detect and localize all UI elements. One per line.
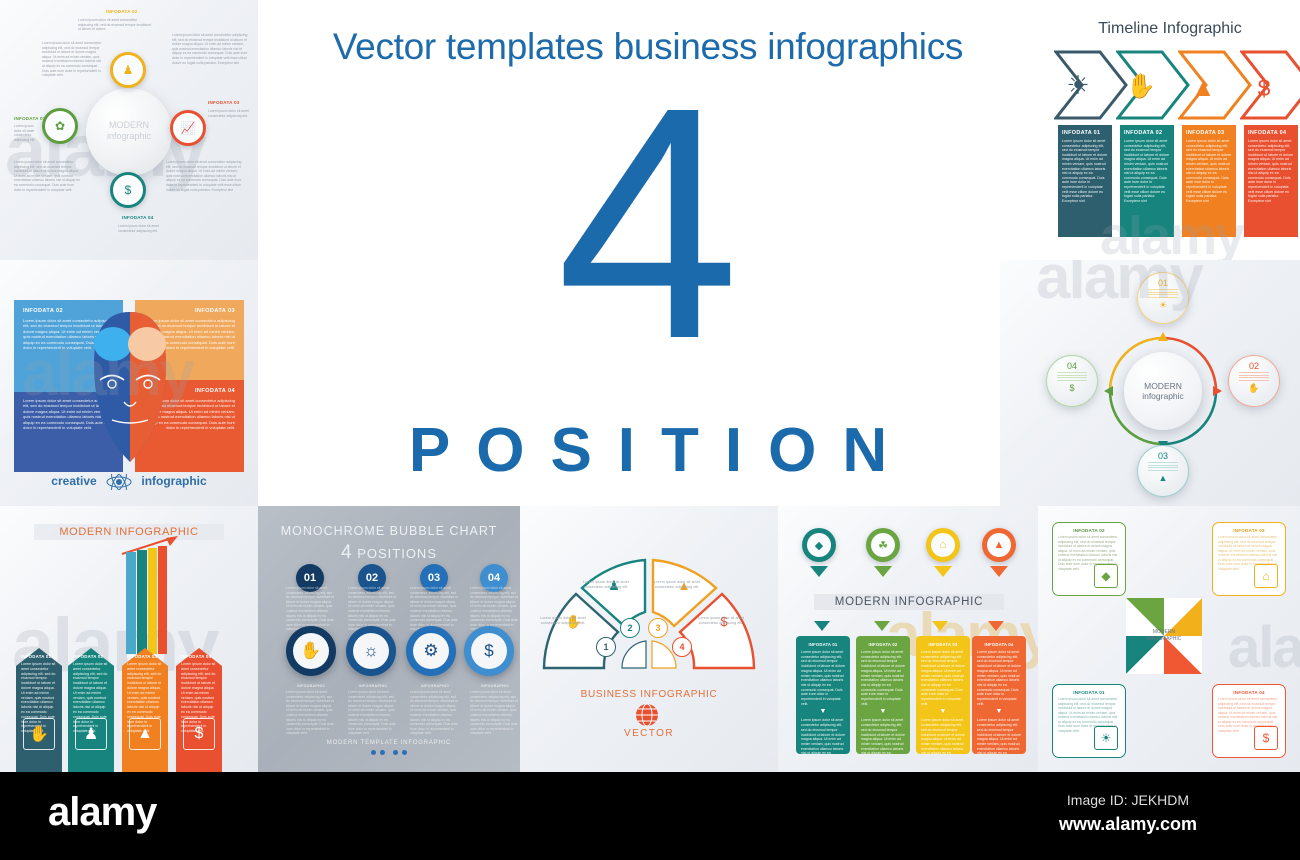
map-icon: ◆ bbox=[1094, 564, 1118, 588]
timeline-card-1-text: Lorem ipsum dolor sit amet consectetur a… bbox=[1062, 139, 1108, 203]
p8-card-4-text2: Lorem ipsum dolor sit amet consectetur a… bbox=[977, 718, 1021, 754]
building-icon: ⌂ bbox=[931, 533, 955, 557]
panel-monochrome-bubbles: MONOCHROME BUBBLE CHART 4 POSITIONS 01 0… bbox=[258, 506, 520, 772]
handshake-icon: ✋ bbox=[1248, 383, 1259, 394]
svg-text:✋: ✋ bbox=[1126, 72, 1156, 100]
p1-text-1b: Lorem ipsum dolor sit amet consectetur a… bbox=[14, 160, 80, 192]
p1-label-3: INFODATA 03 bbox=[208, 101, 239, 106]
arrow-col-3[interactable]: INFODATA 03 Lorem ipsum dolor sit amet c… bbox=[122, 648, 168, 758]
p1-node-3[interactable]: 📈 bbox=[170, 110, 206, 146]
group-icon: ♟ bbox=[75, 718, 107, 750]
bubble-caption-1-body: Lorem ipsum dolor sit amet consectetur a… bbox=[286, 690, 336, 736]
p6-carousel-dots[interactable] bbox=[258, 742, 520, 760]
globe-icon bbox=[634, 702, 660, 728]
ring-node-3-num: 03 bbox=[1158, 451, 1168, 461]
bubble-text-3: Lorem ipsum dolor sit amet consectetur a… bbox=[410, 586, 460, 632]
bubble-text-3-body: Lorem ipsum dolor sit amet consectetur a… bbox=[410, 586, 460, 632]
screenshot-root: Vector templates business infographics 4… bbox=[0, 0, 1300, 860]
p8-triangle-4 bbox=[990, 566, 1008, 577]
p8-card-3-label: INFODATA 03 bbox=[921, 642, 965, 647]
lightbulb-icon: ☀ bbox=[1094, 726, 1118, 750]
bubble-text-2-body: Lorem ipsum dolor sit amet consectetur a… bbox=[348, 586, 398, 632]
p8-triangle2-2 bbox=[874, 621, 890, 631]
dot-3[interactable] bbox=[393, 750, 398, 755]
panel-circular-modern: alamy MODERN infographic ✿ INFODATA 01 L… bbox=[0, 0, 258, 260]
p8-card-3-text2: Lorem ipsum dolor sit amet consectetur a… bbox=[921, 718, 965, 754]
p8-card-4[interactable]: INFODATA 04 Lorem ipsum dolor sit amet c… bbox=[972, 636, 1026, 754]
p1-node-1[interactable]: ✿ bbox=[42, 108, 78, 144]
arrow-col-1[interactable]: INFODATA 01 Lorem ipsum dolor sit amet c… bbox=[16, 648, 62, 758]
p1-center-sphere: MODERN infographic bbox=[86, 88, 172, 176]
p8-card-2-arrow: ▼ bbox=[861, 708, 905, 715]
atom-icon bbox=[106, 474, 132, 490]
watermark-alamy-p9: alamy bbox=[1228, 614, 1300, 681]
corner-card-4[interactable]: INFODATA 04 Lorem ipsum dolor sit amet c… bbox=[1212, 684, 1286, 758]
p1-node-2[interactable]: ♟ bbox=[110, 52, 146, 88]
p1-text-1a: Lorem ipsum dolor sit amet consectetur a… bbox=[14, 124, 40, 142]
plant-icon: ☘ bbox=[871, 533, 895, 557]
p1-center-line2: infographic bbox=[86, 131, 172, 141]
arrow-col-4-label: INFODATA 04 bbox=[181, 654, 217, 659]
timeline-card-2-label: INFODATA 02 bbox=[1124, 130, 1170, 136]
bubble-text-4-body: Lorem ipsum dolor sit amet consectetur a… bbox=[470, 586, 520, 632]
lightbulb-icon: ☀ bbox=[1159, 300, 1167, 311]
segment-1-text: Lorem ipsum dolor sit amet consectetur a… bbox=[540, 616, 586, 626]
p1-label-2: INFODATA 02 bbox=[106, 10, 137, 15]
p8-title: MODERN INFOGRAPHIC bbox=[814, 594, 1004, 610]
image-id-label: Image ID: JEKHDM bbox=[1008, 792, 1248, 808]
timeline-arrow-4[interactable]: $ bbox=[1240, 48, 1300, 122]
corner-card-4-label: INFODATA 04 bbox=[1218, 690, 1280, 695]
arrow-col-2-label: INFODATA 02 bbox=[73, 654, 109, 659]
money-bag-icon: $ bbox=[1254, 726, 1278, 750]
p8-card-1-text: Lorem ipsum dolor sit amet consectetur a… bbox=[801, 650, 845, 706]
bubble-big-2[interactable]: ☼ bbox=[346, 626, 396, 676]
alamy-url: www.alamy.com bbox=[1008, 814, 1248, 835]
timeline-card-1-label: INFODATA 01 bbox=[1062, 130, 1108, 136]
p8-triangle-3 bbox=[934, 566, 952, 577]
panel-ring-modern: MODERN infographic 01 ☀ 02 ✋ 03 ▲ 04 $ a… bbox=[1000, 260, 1300, 506]
panel-modern-cards: alamy ◆ ☘ ⌂ ▲ MODERN INFOGRAPHIC INFODAT… bbox=[778, 506, 1038, 772]
bubble-big-4[interactable]: $ bbox=[464, 626, 514, 676]
map-icon: ◆ bbox=[807, 533, 831, 557]
ring-node-1-num: 01 bbox=[1158, 278, 1168, 288]
bubble-caption-4: INFOGRAPHIC Lorem ipsum dolor sit amet c… bbox=[470, 684, 520, 736]
p6-subtitle: 4 POSITIONS bbox=[258, 542, 520, 564]
p1-label-1: INFODATA 01 bbox=[14, 117, 45, 122]
corner-card-2-label: INFODATA 02 bbox=[1058, 528, 1120, 533]
bubble-caption-2-body: Lorem ipsum dolor sit amet consectetur a… bbox=[348, 690, 398, 736]
big-number: 4 bbox=[258, 58, 1038, 388]
panel-arrow-columns: MODERN INFOGRAPHIC alamy INFODATA 01 Lor… bbox=[0, 506, 258, 772]
bubble-caption-3: INFOGRAPHIC Lorem ipsum dolor sit amet c… bbox=[410, 684, 460, 736]
p1-label-4: INFODATA 04 bbox=[122, 216, 153, 221]
p1-text-2b: Lorem ipsum dolor sit amet consectetur a… bbox=[42, 41, 104, 78]
bubble-caption-2: INFOGRAPHIC Lorem ipsum dolor sit amet c… bbox=[348, 684, 398, 736]
p8-circle-3[interactable]: ⌂ bbox=[926, 528, 960, 562]
chart-icon: 📈 bbox=[176, 116, 200, 140]
chart-icon: ▲ bbox=[987, 533, 1011, 557]
p8-card-2-text: Lorem ipsum dolor sit amet consectetur a… bbox=[861, 650, 905, 706]
ring-node-2[interactable]: 02 ✋ bbox=[1228, 355, 1280, 407]
timeline-card-2[interactable]: INFODATA 02 Lorem ipsum dolor sit amet c… bbox=[1120, 125, 1174, 237]
p6-subtitle-number: 4 bbox=[341, 542, 353, 563]
p8-card-3-text: Lorem ipsum dolor sit amet consectetur a… bbox=[921, 650, 965, 706]
pinwheel-label: MODERN INFOGRAPHIC bbox=[1126, 598, 1202, 674]
money-bag-icon: $ bbox=[1069, 383, 1074, 393]
p8-card-4-text: Lorem ipsum dolor sit amet consectetur a… bbox=[977, 650, 1021, 706]
arrow-col-3-label: INFODATA 03 bbox=[127, 654, 163, 659]
ring-core-line1: MODERN bbox=[1144, 381, 1182, 391]
timeline-card-4-text: Lorem ipsum dolor sit amet consectetur a… bbox=[1248, 139, 1294, 203]
ring-node-2-num: 02 bbox=[1249, 361, 1259, 371]
arrow-col-4[interactable]: INFODATA 04 Lorem ipsum dolor sit amet c… bbox=[176, 648, 222, 758]
panel-semicircle-business: ✋ ♟ ▲ $ Lorem ipsum dolor sit amet conse… bbox=[520, 506, 778, 772]
dot-2[interactable] bbox=[380, 750, 385, 755]
pinwheel-line1: MODERN bbox=[1153, 629, 1175, 636]
bubble-text-2: Lorem ipsum dolor sit amet consectetur a… bbox=[348, 586, 398, 632]
corner-card-3-label: INFODATA 03 bbox=[1218, 528, 1280, 533]
head-silhouette-icon bbox=[80, 304, 180, 474]
dot-1[interactable] bbox=[371, 750, 376, 755]
p6-title: MONOCHROME BUBBLE CHART bbox=[258, 524, 520, 538]
segment-2-text: Lorem ipsum dolor sit amet consectetur a… bbox=[583, 580, 629, 590]
gears-icon: ⚙ bbox=[413, 633, 449, 669]
p8-circle-1[interactable]: ◆ bbox=[802, 528, 836, 562]
svg-text:▲: ▲ bbox=[1191, 74, 1216, 102]
p8-card-1-label: INFODATA 01 bbox=[801, 642, 845, 647]
panel-creative-head: INFODATA 01 Lorem ipsum dolor sit amet c… bbox=[0, 260, 258, 506]
p8-triangle2-1 bbox=[814, 621, 830, 631]
ring-core-line2: infographic bbox=[1142, 391, 1184, 401]
p1-node-4[interactable]: $ bbox=[110, 172, 146, 208]
svg-text:$: $ bbox=[1258, 75, 1271, 101]
p6-subtitle-word: POSITIONS bbox=[357, 546, 437, 561]
timeline-card-2-text: Lorem ipsum dolor sit amet consectetur a… bbox=[1124, 139, 1170, 203]
leaf-icon: ✿ bbox=[48, 114, 72, 138]
ring-node-4[interactable]: 04 $ bbox=[1046, 355, 1098, 407]
ring-core: MODERN infographic bbox=[1124, 352, 1202, 430]
timeline-card-3-label: INFODATA 03 bbox=[1186, 130, 1232, 136]
p8-card-2-label: INFODATA 02 bbox=[861, 642, 905, 647]
center-title-column: Vector templates business infographics 4… bbox=[258, 0, 1038, 506]
p1-text-4b: Lorem ipsum dolor sit amet consectetur a… bbox=[166, 160, 244, 192]
p8-card-1-text2: Lorem ipsum dolor sit amet consectetur a… bbox=[801, 718, 845, 754]
timeline-card-3-text: Lorem ipsum dolor sit amet consectetur a… bbox=[1186, 139, 1232, 203]
p1-text-3b: Lorem ipsum dolor sit amet consectetur a… bbox=[172, 33, 250, 65]
timeline-card-1[interactable]: INFODATA 01 Lorem ipsum dolor sit amet c… bbox=[1058, 125, 1112, 237]
group-icon: ♟ bbox=[116, 58, 140, 82]
p7-subtitle: VECTOR bbox=[520, 728, 778, 739]
segment-number-4[interactable]: 4 bbox=[672, 637, 692, 657]
panel-corner-cards: alamy INFODATA 02 Lorem ipsum dolor sit … bbox=[1038, 506, 1300, 772]
bubble-caption-4-body: Lorem ipsum dolor sit amet consectetur a… bbox=[470, 690, 520, 736]
building-icon: ⌂ bbox=[1254, 564, 1278, 588]
p8-triangle-1 bbox=[810, 566, 828, 577]
p3-footer-right: infographic bbox=[141, 474, 206, 488]
bubble-text-4: Lorem ipsum dolor sit amet consectetur a… bbox=[470, 586, 520, 632]
p8-card-4-label: INFODATA 04 bbox=[977, 642, 1021, 647]
p8-triangle2-4 bbox=[988, 621, 1004, 631]
p8-card-3-arrow: ▼ bbox=[921, 708, 965, 715]
segment-3-text: Lorem ipsum dolor sit amet consectetur a… bbox=[654, 580, 700, 590]
p2-title: Timeline Infographic bbox=[1040, 20, 1300, 38]
segment-number-1[interactable]: 1 bbox=[596, 637, 616, 657]
ring-node-3[interactable]: 03 ▲ bbox=[1137, 445, 1189, 497]
ring-node-1[interactable]: 01 ☀ bbox=[1137, 272, 1189, 324]
p1-text-3a: Lorem ipsum dolor sit amet consectetur a… bbox=[208, 109, 252, 118]
dot-4[interactable] bbox=[402, 750, 407, 755]
ring-node-4-num: 04 bbox=[1067, 361, 1077, 371]
bubble-caption-1-title: INFOGRAPHIC bbox=[286, 684, 336, 688]
pinwheel-line2: INFOGRAPHIC bbox=[1147, 636, 1182, 643]
timeline-card-4-label: INFODATA 04 bbox=[1248, 130, 1294, 136]
corner-card-1-label: INFODATA 01 bbox=[1058, 690, 1120, 695]
p8-card-4-arrow: ▼ bbox=[977, 708, 1021, 715]
corner-card-3[interactable]: INFODATA 03 Lorem ipsum dolor sit amet c… bbox=[1212, 522, 1286, 596]
bubble-caption-1: INFOGRAPHIC Lorem ipsum dolor sit amet c… bbox=[286, 684, 336, 736]
bubble-caption-4-title: INFOGRAPHIC bbox=[470, 684, 520, 688]
alamy-footer-bar: alamy Image ID: JEKHDM www.alamy.com bbox=[0, 772, 1300, 860]
segment-number-3[interactable]: 3 bbox=[648, 618, 668, 638]
bubble-big-3[interactable]: ⚙ bbox=[406, 626, 456, 676]
money-bag-icon: $ bbox=[116, 178, 140, 202]
bubble-caption-3-body: Lorem ipsum dolor sit amet consectetur a… bbox=[410, 690, 460, 736]
segment-number-2[interactable]: 2 bbox=[620, 618, 640, 638]
p8-circle-4[interactable]: ▲ bbox=[982, 528, 1016, 562]
p8-card-3[interactable]: INFODATA 03 Lorem ipsum dolor sit amet c… bbox=[916, 636, 970, 754]
money-bag-icon: $ bbox=[183, 718, 215, 750]
arrow-col-1-label: INFODATA 01 bbox=[21, 654, 57, 659]
handshake-idea-icon: ✋ bbox=[293, 633, 329, 669]
alamy-logo: alamy bbox=[48, 790, 156, 835]
pinwheel-center: MODERN INFOGRAPHIC bbox=[1126, 598, 1202, 674]
bar-chart-icon: ▲ bbox=[1159, 473, 1168, 483]
bar-chart-icon: ▲ bbox=[129, 718, 161, 750]
dollar-icon: $ bbox=[471, 633, 507, 669]
rocket-icon: ☼ bbox=[353, 633, 389, 669]
p7-title: BUSINESS INFOGRAPHIC bbox=[520, 689, 778, 700]
semicircle-segments: ✋ ♟ ▲ $ bbox=[532, 542, 766, 672]
arrow-col-2[interactable]: INFODATA 02 Lorem ipsum dolor sit amet c… bbox=[68, 648, 114, 758]
p3-footer-left: creative bbox=[51, 474, 96, 488]
bubble-caption-3-title: INFOGRAPHIC bbox=[410, 684, 460, 688]
p8-circle-2[interactable]: ☘ bbox=[866, 528, 900, 562]
timeline-card-4[interactable]: INFODATA 04 Lorem ipsum dolor sit amet c… bbox=[1244, 125, 1298, 237]
panel-timeline: Timeline Infographic ☀ ✋ ▲ $ INFODATA 01… bbox=[1040, 0, 1300, 260]
p1-text-4a: Lorem ipsum dolor sit amet consectetur a… bbox=[118, 224, 162, 233]
p8-triangle-2 bbox=[874, 566, 892, 577]
p8-card-2[interactable]: INFODATA 02 Lorem ipsum dolor sit amet c… bbox=[856, 636, 910, 754]
p8-card-1-arrow: ▼ bbox=[801, 708, 845, 715]
p8-triangle2-3 bbox=[932, 621, 948, 631]
p1-center-line1: MODERN bbox=[86, 120, 172, 130]
rising-ribbon bbox=[124, 544, 168, 654]
p8-card-2-text2: Lorem ipsum dolor sit amet consectetur a… bbox=[861, 718, 905, 754]
svg-text:☀: ☀ bbox=[1066, 70, 1089, 100]
position-word: POSITION bbox=[258, 415, 1038, 486]
handshake-icon: ✋ bbox=[23, 718, 55, 750]
p3-footer: creative infographic bbox=[0, 474, 258, 490]
p1-text-2a: Lorem ipsum dolor sit amet consectetur a… bbox=[78, 18, 152, 32]
corner-card-1[interactable]: INFODATA 01 Lorem ipsum dolor sit amet c… bbox=[1052, 684, 1126, 758]
corner-card-2[interactable]: INFODATA 02 Lorem ipsum dolor sit amet c… bbox=[1052, 522, 1126, 596]
segment-4-text: Lorem ipsum dolor sit amet consectetur a… bbox=[698, 616, 744, 626]
bubble-big-1[interactable]: ✋ bbox=[286, 626, 336, 676]
bubble-caption-2-title: INFOGRAPHIC bbox=[348, 684, 398, 688]
p8-card-1[interactable]: INFODATA 01 Lorem ipsum dolor sit amet c… bbox=[796, 636, 850, 754]
timeline-card-3[interactable]: INFODATA 03 Lorem ipsum dolor sit amet c… bbox=[1182, 125, 1236, 237]
